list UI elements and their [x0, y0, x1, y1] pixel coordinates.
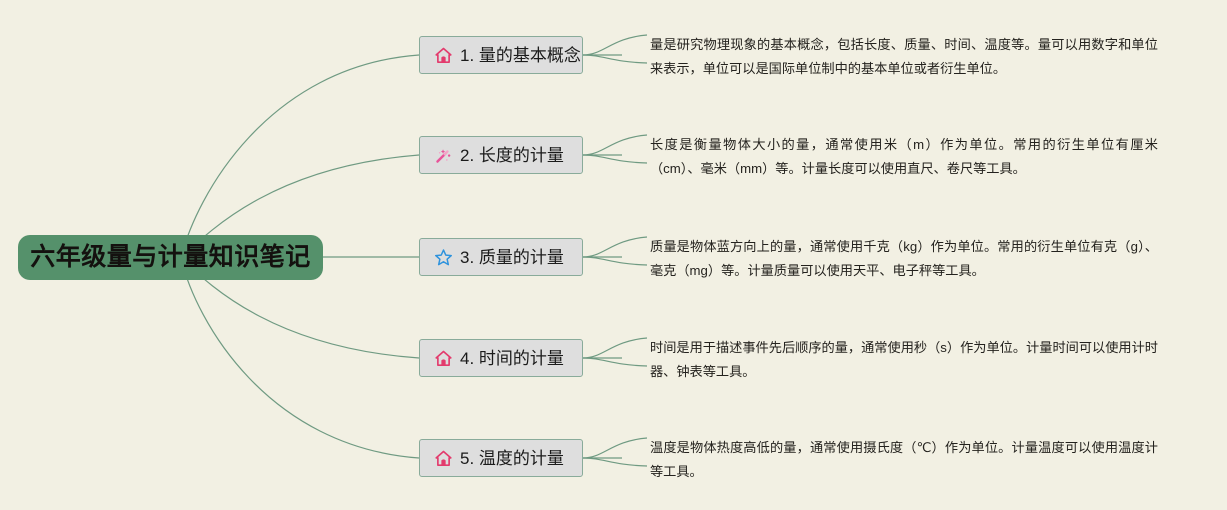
root-node-label: 六年级量与计量知识笔记: [30, 245, 311, 270]
branch-node-4[interactable]: 4. 时间的计量: [419, 339, 583, 377]
link-branch-4-to-desc: [583, 338, 647, 366]
mindmap-canvas: 六年级量与计量知识笔记 1. 量的基本概念 2. 长度的计量 3. 质量的计量: [0, 0, 1227, 510]
link-branch-2-to-desc: [583, 135, 647, 163]
branch-node-2[interactable]: 2. 长度的计量: [419, 136, 583, 174]
link-branch-5-to-desc: [583, 438, 647, 466]
home-icon: [434, 449, 453, 468]
branch-node-label: 3. 质量的计量: [460, 249, 564, 266]
link-root-to-branch-5: [181, 258, 419, 458]
link-branch-1-to-desc: [583, 35, 647, 63]
link-branch-3-to-desc: [583, 237, 647, 265]
branch-node-3[interactable]: 3. 质量的计量: [419, 238, 583, 276]
link-root-to-branch-1: [181, 55, 419, 258]
branch-description-3: 质量是物体蓝方向上的量，通常使用千克（kg）作为单位。常用的衍生单位有克（g）、…: [650, 235, 1158, 283]
home-icon: [434, 349, 453, 368]
branch-node-label: 4. 时间的计量: [460, 350, 564, 367]
branch-node-label: 5. 温度的计量: [460, 450, 564, 467]
root-node[interactable]: 六年级量与计量知识笔记: [18, 235, 323, 280]
branch-description-1: 量是研究物理现象的基本概念，包括长度、质量、时间、温度等。量可以用数字和单位来表…: [650, 33, 1158, 81]
branch-description-5: 温度是物体热度高低的量，通常使用摄氏度（℃）作为单位。计量温度可以使用温度计等工…: [650, 436, 1158, 484]
branch-node-1[interactable]: 1. 量的基本概念: [419, 36, 583, 74]
branch-description-4: 时间是用于描述事件先后顺序的量，通常使用秒（s）作为单位。计量时间可以使用计时器…: [650, 336, 1158, 384]
home-icon: [434, 46, 453, 65]
star-icon: [434, 248, 453, 267]
branch-node-5[interactable]: 5. 温度的计量: [419, 439, 583, 477]
branch-node-label: 1. 量的基本概念: [460, 47, 581, 64]
branch-description-2: 长度是衡量物体大小的量，通常使用米（m）作为单位。常用的衍生单位有厘米（cm）、…: [650, 133, 1158, 181]
magic-wand-icon: [434, 146, 453, 165]
branch-node-label: 2. 长度的计量: [460, 147, 564, 164]
